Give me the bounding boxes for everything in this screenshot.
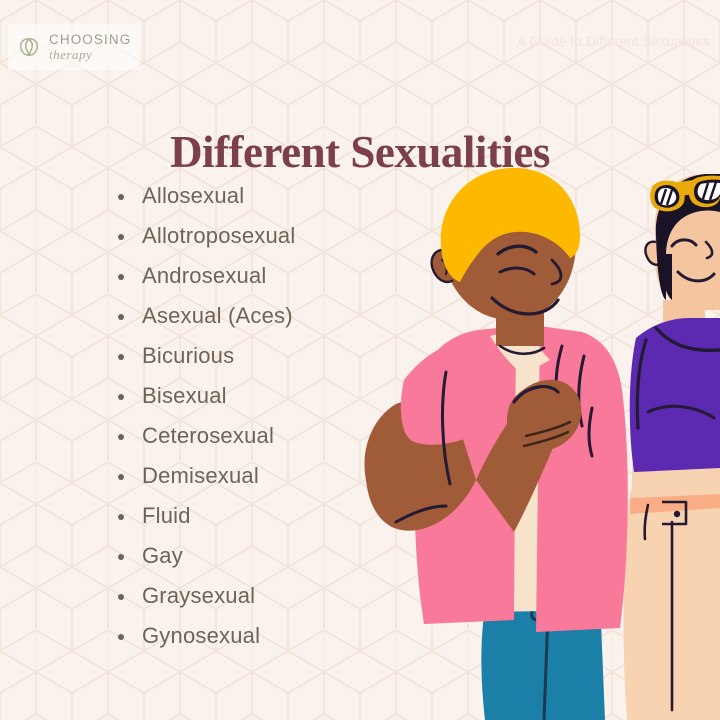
logo-wordmark: CHOOSING therapy xyxy=(49,33,131,62)
list-item: Bicurious xyxy=(116,336,295,376)
list-item: Demisexual xyxy=(116,456,295,496)
leaf-logo-icon xyxy=(14,32,44,62)
person-with-sunglasses xyxy=(624,174,720,720)
logo-word-therapy: therapy xyxy=(49,48,131,61)
list-item: Fluid xyxy=(116,496,295,536)
infographic-canvas: CHOOSING therapy A Guide to Different Se… xyxy=(0,0,720,720)
list-item: Allosexual xyxy=(116,176,295,216)
right-person-button xyxy=(674,511,680,517)
list-item: Ceterosexual xyxy=(116,416,295,456)
list-item: Allotroposexual xyxy=(116,216,295,256)
person-with-blonde-hair xyxy=(364,168,627,720)
logo-word-choosing: CHOOSING xyxy=(49,33,131,47)
page-title: Different Sexualities xyxy=(0,126,720,178)
two-people-illustration xyxy=(300,150,720,720)
list-item: Androsexual xyxy=(116,256,295,296)
guide-caption: A Guide to Different Sexualities xyxy=(517,34,710,49)
sexualities-list: Allosexual Allotroposexual Androsexual A… xyxy=(116,176,295,656)
brand-logo[interactable]: CHOOSING therapy xyxy=(8,24,140,70)
list-item: Gay xyxy=(116,536,295,576)
list-item: Gynosexual xyxy=(116,616,295,656)
list-item: Bisexual xyxy=(116,376,295,416)
list-item: Graysexual xyxy=(116,576,295,616)
list-item: Asexual (Aces) xyxy=(116,296,295,336)
